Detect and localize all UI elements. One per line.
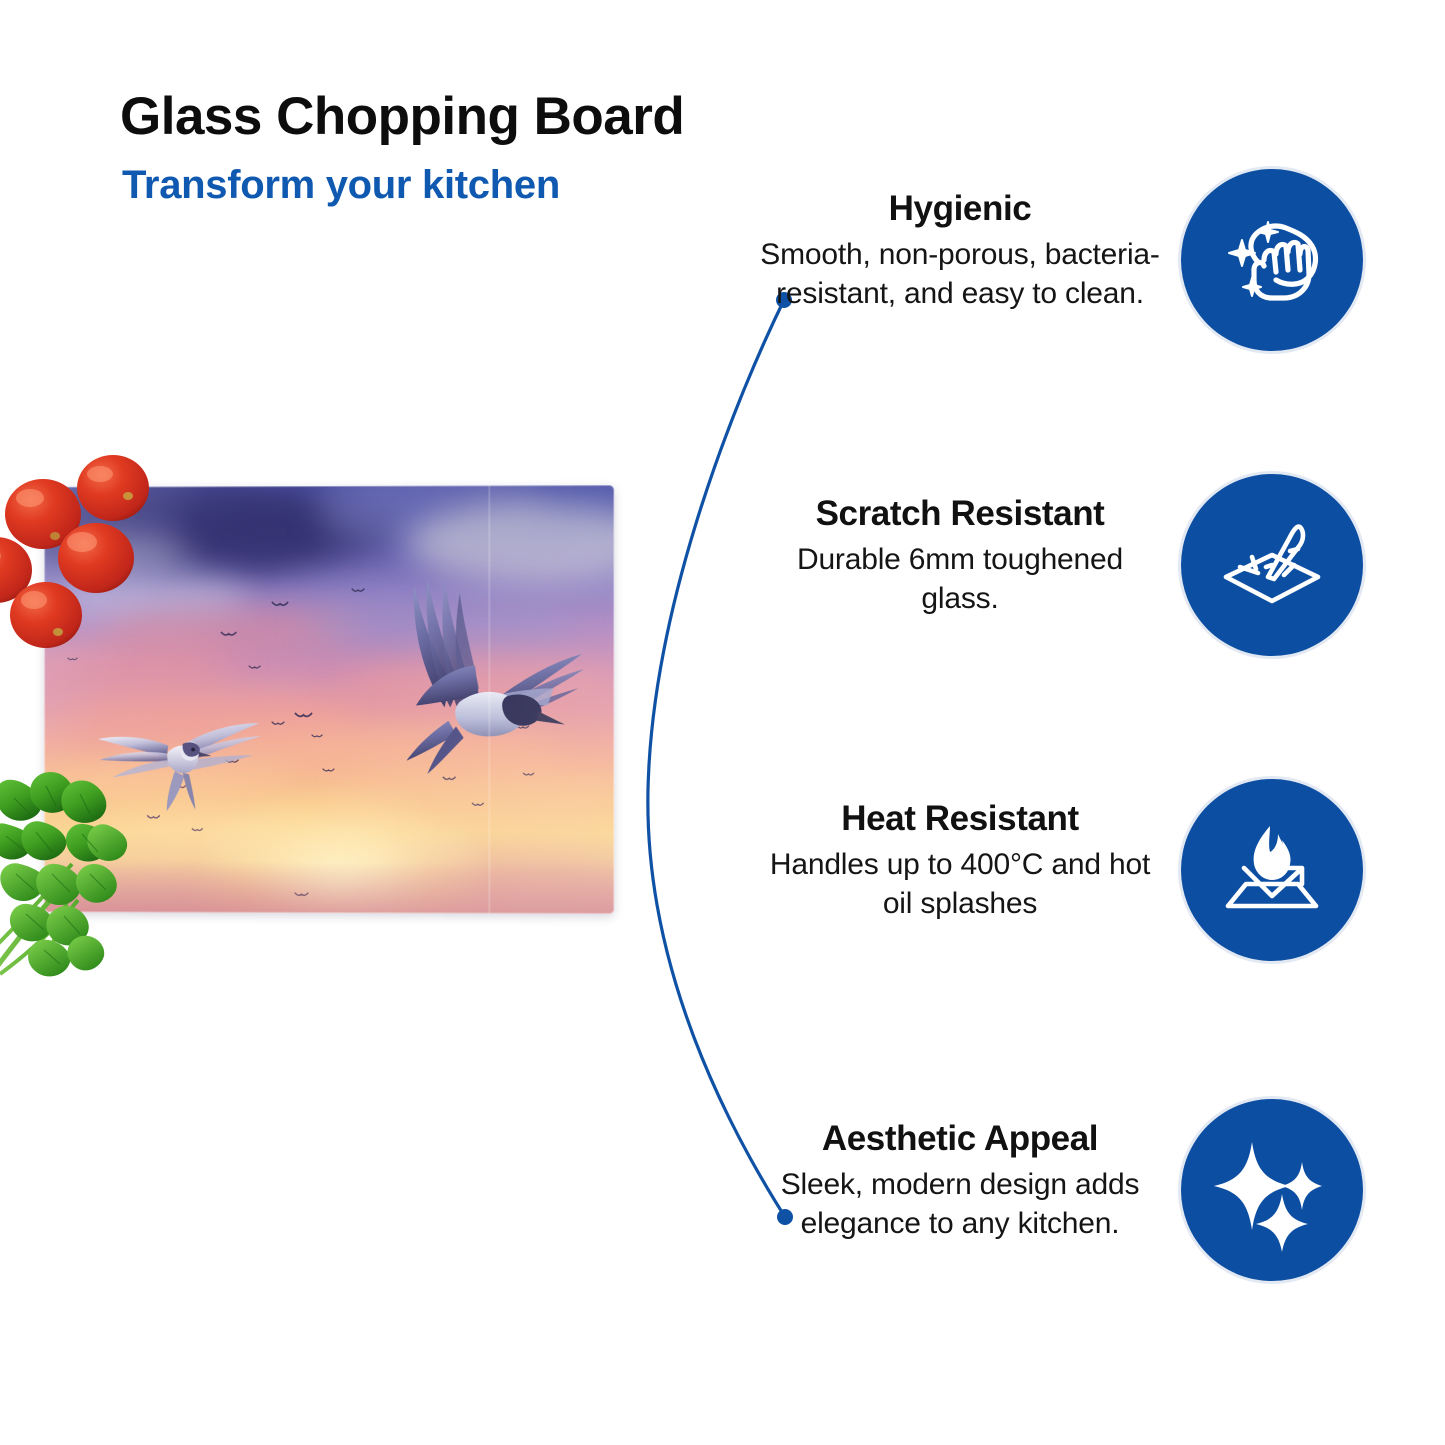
feature-description: Durable 6mm toughened glass. [760, 540, 1160, 618]
infographic-canvas: Glass Chopping Board Transform your kitc… [0, 0, 1445, 1445]
distant-bird-icon [271, 601, 289, 610]
distant-bird-icon [271, 721, 285, 728]
knife-on-board-impact-icon [1181, 474, 1363, 656]
page-title: Glass Chopping Board [120, 86, 684, 147]
callout-curve [600, 270, 820, 1250]
distant-bird-icon [471, 802, 484, 809]
three-sparkles-icon [1181, 1099, 1363, 1281]
distant-bird-icon [67, 657, 78, 663]
distant-bird-icon [220, 631, 237, 640]
cherry-tomatoes-garnish [0, 452, 158, 652]
feature-heading: Heat Resistant [760, 800, 1160, 838]
feature-description: Sleek, modern design adds elegance to an… [760, 1165, 1160, 1243]
distant-bird-icon [248, 665, 261, 672]
distant-bird-icon [294, 712, 313, 722]
distant-bird-icon [322, 768, 335, 775]
feature-description: Handles up to 400°C and hot oil splashes [760, 845, 1160, 923]
feature-heading: Hygienic [760, 190, 1160, 228]
distant-bird-icon [294, 892, 309, 900]
hand-wiping-sparkle-icon [1181, 169, 1363, 351]
board-seam [488, 485, 490, 913]
flying-tern-bird [357, 562, 586, 768]
page-subtitle: Transform your kitchen [122, 163, 560, 208]
flame-deflect-arrow-icon [1181, 779, 1363, 961]
parsley-garnish [0, 768, 165, 983]
feature-heading: Scratch Resistant [760, 495, 1160, 533]
feature-description: Smooth, non-porous, bacteria-resistant, … [760, 235, 1160, 313]
feature-heading: Aesthetic Appeal [760, 1120, 1160, 1158]
distant-bird-icon [311, 734, 323, 740]
